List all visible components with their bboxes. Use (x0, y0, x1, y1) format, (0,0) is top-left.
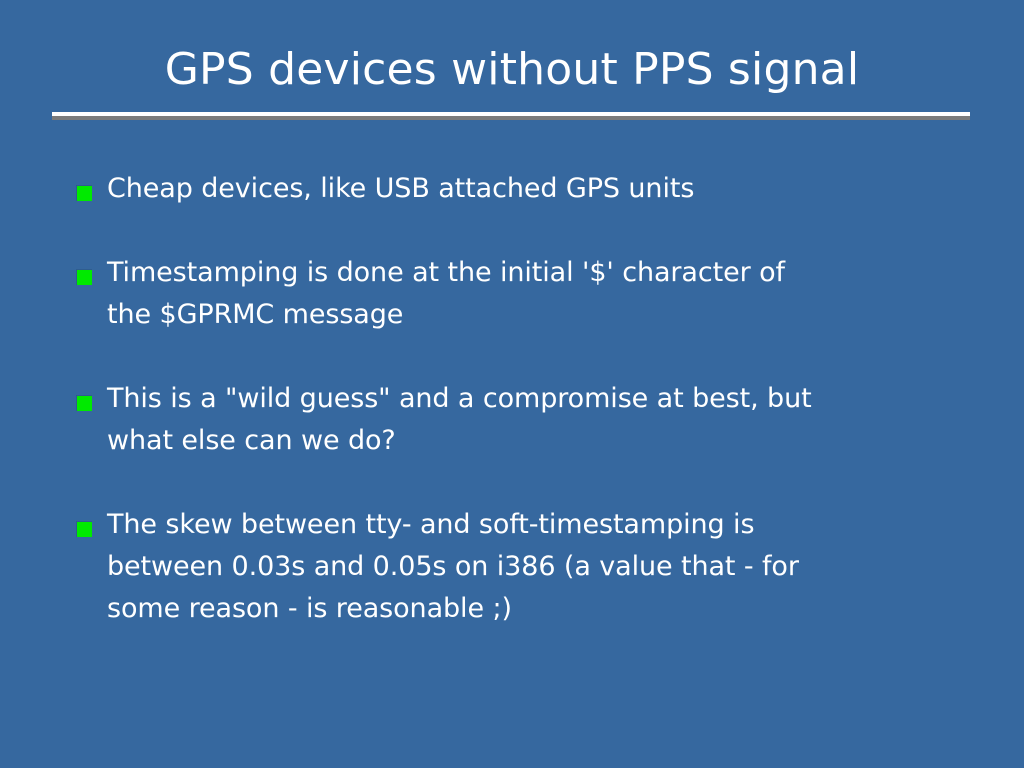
list-item: The skew between tty- and soft-timestamp… (76, 504, 976, 630)
slide-title-block: GPS devices without PPS signal (0, 44, 1024, 96)
square-bullet-icon (76, 269, 92, 285)
page-title: GPS devices without PPS signal (0, 44, 1024, 96)
list-item-line: Timestamping is done at the initial '$' … (107, 252, 927, 294)
list-item-text: The skew between tty- and soft-timestamp… (107, 504, 927, 630)
list-item-text: Timestamping is done at the initial '$' … (107, 252, 927, 336)
list-item: This is a "wild guess" and a compromise … (76, 378, 976, 462)
title-divider-shadow (52, 116, 970, 120)
list-item-line: between 0.03s and 0.05s on i386 (a value… (107, 546, 927, 588)
list-item-line: This is a "wild guess" and a compromise … (107, 378, 927, 420)
list-item-line: some reason - is reasonable ;) (107, 588, 927, 630)
list-item-line: the $GPRMC message (107, 294, 927, 336)
square-bullet-icon (76, 185, 92, 201)
square-bullet-icon (76, 521, 92, 537)
title-divider (52, 112, 970, 121)
list-item-line: what else can we do? (107, 420, 927, 462)
list-item-line: The skew between tty- and soft-timestamp… (107, 504, 927, 546)
list-item-text: Cheap devices, like USB attached GPS uni… (107, 168, 927, 210)
presentation-slide: GPS devices without PPS signal Cheap dev… (0, 0, 1024, 768)
list-item: Cheap devices, like USB attached GPS uni… (76, 168, 976, 210)
square-bullet-icon (76, 395, 92, 411)
bullet-list: Cheap devices, like USB attached GPS uni… (76, 168, 976, 630)
list-item: Timestamping is done at the initial '$' … (76, 252, 976, 336)
list-item-text: This is a "wild guess" and a compromise … (107, 378, 927, 462)
list-item-line: Cheap devices, like USB attached GPS uni… (107, 168, 927, 210)
